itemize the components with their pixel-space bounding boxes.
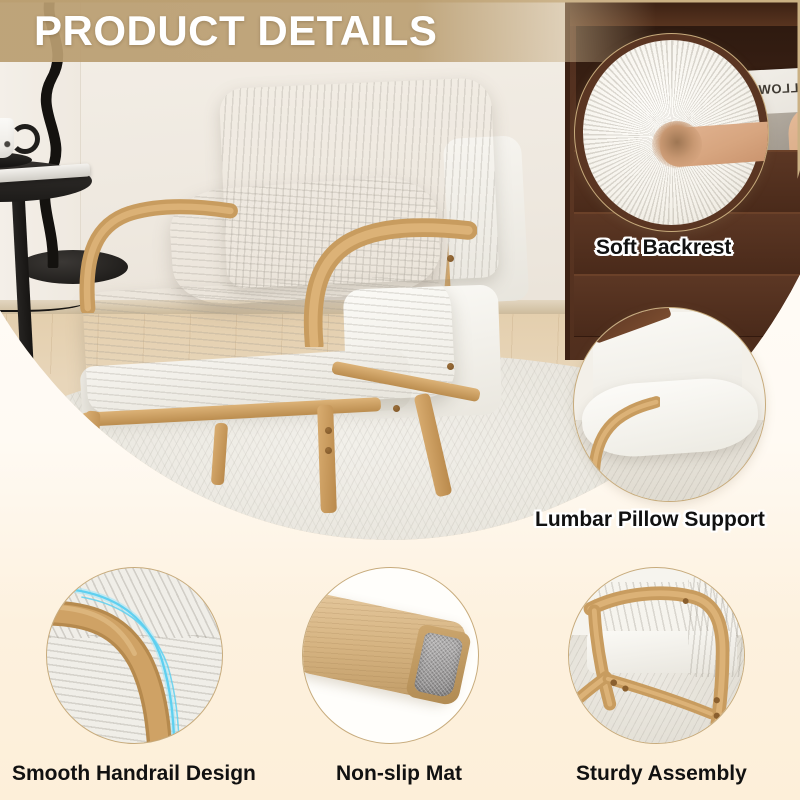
chair-dowel-pin [447, 255, 454, 262]
soft-backrest-press-dent [652, 121, 702, 168]
chair-dowel-pin [447, 363, 454, 370]
callout-label-non-slip-mat: Non-slip Mat [336, 762, 462, 786]
handrail-callout-armrest [47, 568, 222, 743]
callout-label-lumbar-pillow-support: Lumbar Pillow Support [535, 508, 765, 532]
chair-dowel-pin [325, 447, 332, 454]
page-title: PRODUCT DETAILS [34, 9, 437, 53]
side-table-stretcher [0, 415, 30, 432]
callout-sturdy-assembly [568, 567, 745, 744]
callout-label-soft-backrest: Soft Backrest [596, 236, 731, 260]
mug-pattern [0, 127, 14, 153]
callout-smooth-handrail-design [46, 567, 223, 744]
chair-dowel-pin [325, 427, 332, 434]
chair-left-armrest [77, 193, 239, 313]
callout-label-smooth-handrail-design: Smooth Handrail Design [12, 762, 256, 786]
chair-right-armrest [301, 215, 477, 347]
callout-soft-backrest [574, 33, 769, 232]
chair-rear-left-leg [211, 423, 228, 486]
chair-front-right-leg [317, 405, 337, 513]
chair-dowel-pin [393, 405, 400, 412]
product-details-page: FOLLOW [0, 0, 800, 800]
callout-label-sturdy-assembly: Sturdy Assembly [576, 762, 747, 786]
sturdy-assembly-frame [569, 568, 744, 743]
accent-chair [95, 75, 535, 505]
magazine-title: FOLLOW [758, 79, 800, 97]
lumbar-callout-armrest [580, 393, 660, 501]
callout-lumbar-pillow-support [573, 307, 766, 502]
chair-front-left-leg [80, 411, 100, 508]
mug [0, 118, 14, 158]
callout-non-slip-mat [302, 567, 479, 744]
mug-handle [10, 124, 40, 154]
